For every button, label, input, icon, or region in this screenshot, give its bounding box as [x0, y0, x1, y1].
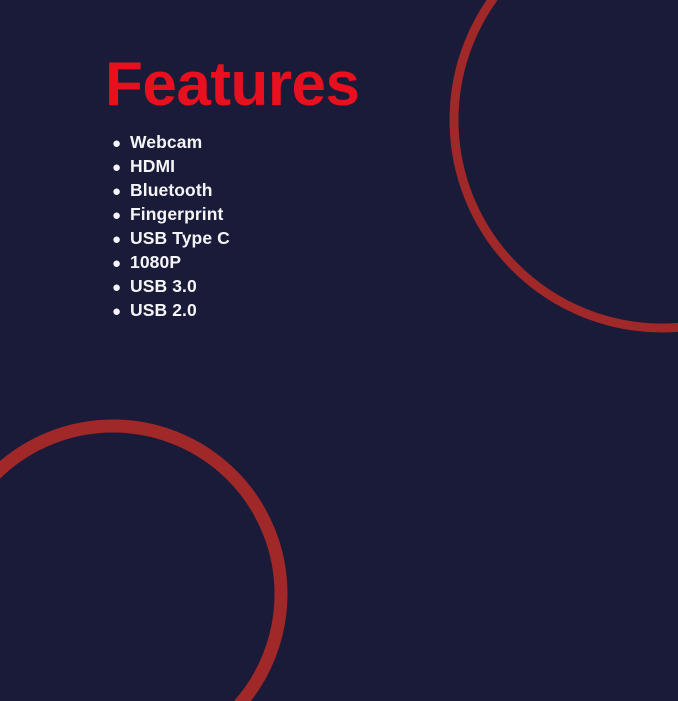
list-item: ● USB Type C: [112, 226, 230, 250]
list-item-label: 1080P: [130, 250, 181, 274]
list-item: ● Webcam: [112, 130, 230, 154]
list-item-label: Fingerprint: [130, 202, 223, 226]
bullet-icon: ●: [112, 252, 130, 276]
page-title: Features: [105, 49, 359, 121]
list-item: ● Fingerprint: [112, 202, 230, 226]
bullet-icon: ●: [112, 276, 130, 300]
list-item-label: USB 2.0: [130, 298, 197, 322]
bullet-icon: ●: [112, 228, 130, 252]
bullet-icon: ●: [112, 204, 130, 228]
top-right-circle-arc-icon: [454, 0, 678, 328]
bullet-icon: ●: [112, 132, 130, 156]
bottom-left-circle-arc-icon: [0, 426, 281, 701]
bullet-icon: ●: [112, 156, 130, 180]
list-item: ● USB 3.0: [112, 274, 230, 298]
bullet-icon: ●: [112, 180, 130, 204]
list-item-label: Webcam: [130, 130, 202, 154]
list-item-label: USB Type C: [130, 226, 230, 250]
list-item: ● Bluetooth: [112, 178, 230, 202]
list-item-label: USB 3.0: [130, 274, 197, 298]
feature-list: ● Webcam ● HDMI ● Bluetooth ● Fingerprin…: [112, 130, 230, 322]
bullet-icon: ●: [112, 300, 130, 324]
list-item: ● USB 2.0: [112, 298, 230, 322]
list-item-label: Bluetooth: [130, 178, 213, 202]
features-slide: Features ● Webcam ● HDMI ● Bluetooth ● F…: [0, 0, 678, 701]
list-item: ● 1080P: [112, 250, 230, 274]
list-item-label: HDMI: [130, 154, 175, 178]
list-item: ● HDMI: [112, 154, 230, 178]
